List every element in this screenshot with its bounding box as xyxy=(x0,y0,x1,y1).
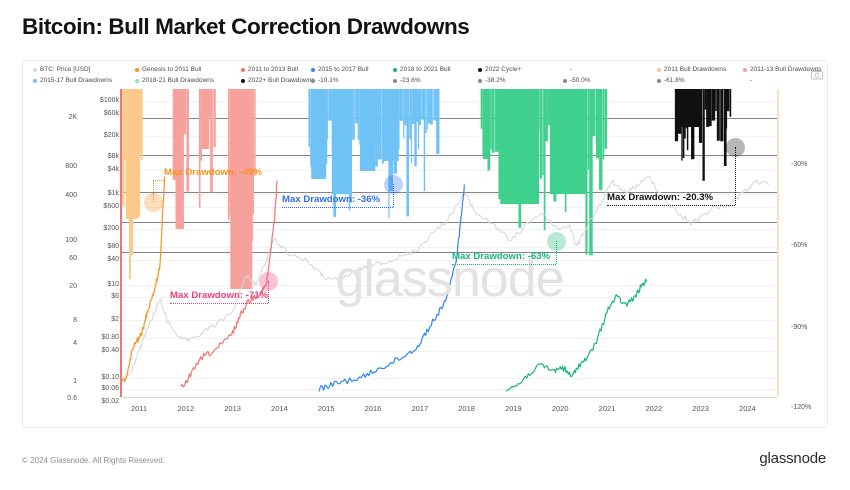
legend-item[interactable]: 2011 to 2013 Bull xyxy=(241,67,298,73)
page-title: Bitcoin: Bull Market Correction Drawdown… xyxy=(22,14,469,40)
drawdown-band-2015-17 xyxy=(382,89,398,161)
y-tick-label-drawdown: -120% xyxy=(791,404,811,411)
legend-item[interactable]: - xyxy=(563,67,572,73)
legend-swatch xyxy=(33,79,37,83)
legend-item-label: - xyxy=(570,67,572,73)
x-axis: 2011201220132014201520162017201820192020… xyxy=(122,400,777,420)
y-tick-label-price: $200 xyxy=(103,225,119,232)
chart-page: Bitcoin: Bull Market Correction Drawdown… xyxy=(0,0,850,490)
drawdown-band-2018-21 xyxy=(483,89,490,159)
legend-item[interactable]: - xyxy=(743,78,752,84)
y-tick-label-drawdown: -90% xyxy=(791,324,807,331)
annotation-leader-horizontal xyxy=(153,180,164,181)
drawdown-band-2022 xyxy=(677,89,700,127)
legend-swatch xyxy=(657,68,661,72)
y-tick-label-price: $0.02 xyxy=(101,398,119,405)
legend-item-label: 2018 to 2021 Bull xyxy=(400,67,451,73)
y-tick-label-price: $600 xyxy=(103,203,119,210)
max-drawdown-annotation: Max Drawdown: -49% xyxy=(164,167,262,178)
y-tick-label-price: $6 xyxy=(111,293,119,300)
legend-item[interactable]: 2022 Cycle+ xyxy=(478,67,521,73)
legend-swatch xyxy=(563,79,567,83)
y-tick-label-drawdown: -60% xyxy=(791,242,807,249)
x-tick-label: 2012 xyxy=(177,404,194,413)
y-axis-right-spine xyxy=(777,89,779,397)
footer-logo: glassnode xyxy=(759,450,826,467)
plot-canvas: glassnode Max Drawdown: -49%Max Drawdown… xyxy=(122,89,777,397)
legend-item-label: -23.6% xyxy=(400,78,421,84)
max-drawdown-annotation: Max Drawdown: -20.3% xyxy=(607,192,713,203)
chart-card: BTC: Price [USD]2015-17 Bull DrawdownsGe… xyxy=(22,60,828,428)
legend-item-label: -38.2% xyxy=(485,78,506,84)
y-tick-label-price: $8k xyxy=(108,153,119,160)
y-tick-label-price: $1k xyxy=(108,190,119,197)
y-tick-label-price: $2 xyxy=(111,316,119,323)
y-tick-label-price: $20k xyxy=(104,132,119,139)
legend-item[interactable]: -10.1% xyxy=(311,78,339,84)
price-cycle-2018-2021 xyxy=(506,279,646,391)
legend-item[interactable]: 2015 to 2017 Bull xyxy=(311,67,369,73)
drawdown-band-2011-13 xyxy=(176,89,184,229)
legend-item[interactable]: -50.0% xyxy=(563,78,591,84)
x-tick-label: 2014 xyxy=(271,404,288,413)
legend-swatch xyxy=(743,79,747,83)
legend-item-label: 2022 Cycle+ xyxy=(485,67,521,73)
y-axis-left-primary: 2K80040010060208410.6 xyxy=(43,89,77,397)
max-drawdown-marker xyxy=(259,272,278,291)
y-tick-label: 800 xyxy=(65,163,77,170)
y-tick-label-drawdown: -30% xyxy=(791,161,807,168)
y-tick-label-price: $0.80 xyxy=(101,334,119,341)
legend-swatch xyxy=(135,79,139,83)
legend-swatch xyxy=(393,79,397,83)
x-tick-label: 2011 xyxy=(131,404,147,413)
legend-item[interactable]: -23.6% xyxy=(393,78,421,84)
y-tick-label-price: $0.06 xyxy=(101,385,119,392)
max-drawdown-annotation: Max Drawdown: -63% xyxy=(452,251,550,262)
y-tick-label: 400 xyxy=(65,192,77,199)
btc-price-line xyxy=(122,176,768,388)
x-axis-line xyxy=(122,397,777,398)
max-drawdown-marker xyxy=(384,175,403,194)
legend-swatch xyxy=(135,68,139,72)
legend-swatch xyxy=(393,68,397,72)
drawdown-icicles-2018-21 xyxy=(481,89,607,255)
legend-swatch xyxy=(478,79,482,83)
annotation-leader-horizontal xyxy=(607,205,735,206)
legend-swatch xyxy=(33,68,37,72)
legend-item[interactable]: 2015-17 Bull Drawdowns xyxy=(33,78,112,84)
drawdown-band-2015-17 xyxy=(332,89,352,194)
y-tick-label-price: $40 xyxy=(107,256,119,263)
y-tick-label: 60 xyxy=(69,255,77,262)
y-tick-label-price: $0.40 xyxy=(101,347,119,354)
series-layer xyxy=(122,89,777,397)
legend-swatch xyxy=(241,79,245,83)
x-tick-label: 2024 xyxy=(739,404,756,413)
annotation-leader-horizontal xyxy=(170,303,268,304)
legend-item[interactable]: 2011 Bull Drawdowns xyxy=(657,67,726,73)
legend-item-label: 2011 Bull Drawdowns xyxy=(664,67,726,73)
max-drawdown-annotation: Max Drawdown: -71% xyxy=(170,290,268,301)
y-tick-label: 0.6 xyxy=(67,395,77,402)
max-drawdown-marker xyxy=(144,193,163,212)
x-tick-label: 2018 xyxy=(458,404,475,413)
legend-item-label: 2015-17 Bull Drawdowns xyxy=(40,78,112,84)
legend-item[interactable]: -38.2% xyxy=(478,78,506,84)
y-tick-label: 100 xyxy=(65,237,77,244)
y-tick-label: 8 xyxy=(73,317,77,324)
legend-item-label: Genesis to 2011 Bull xyxy=(142,67,202,73)
max-drawdown-marker xyxy=(726,138,745,157)
legend-item-label: BTC: Price [USD] xyxy=(40,67,91,73)
y-tick-label: 1 xyxy=(73,378,77,385)
max-drawdown-annotation: Max Drawdown: -36% xyxy=(282,194,380,205)
chart-legend: BTC: Price [USD]2015-17 Bull DrawdownsGe… xyxy=(23,61,829,89)
drawdown-band-2015-17 xyxy=(311,89,326,179)
y-tick-label-price: $10 xyxy=(107,281,119,288)
x-tick-label: 2021 xyxy=(599,404,616,413)
y-tick-label: 4 xyxy=(73,340,77,347)
x-tick-label: 2015 xyxy=(318,404,335,413)
legend-item-label: - xyxy=(750,78,752,84)
price-cycle-2015-2017 xyxy=(319,185,464,391)
legend-item-label: -50.0% xyxy=(570,78,591,84)
legend-swatch xyxy=(478,68,482,72)
drawdown-band-2018-21 xyxy=(500,89,539,204)
y-tick-label-price: $60k xyxy=(104,110,119,117)
legend-swatch xyxy=(657,79,661,83)
y-tick-label: 20 xyxy=(69,283,77,290)
y-tick-label-price: $80 xyxy=(107,243,119,250)
x-tick-label: 2016 xyxy=(365,404,382,413)
legend-item[interactable]: BTC: Price [USD] xyxy=(33,67,91,73)
legend-swatch xyxy=(311,79,315,83)
legend-swatch xyxy=(241,68,245,72)
legend-swatch xyxy=(563,68,567,72)
legend-item[interactable]: 2022+ Bull Drawdowns xyxy=(241,78,315,84)
y-tick-label-price: $100k xyxy=(100,97,119,104)
legend-item-label: -61.8% xyxy=(664,78,685,84)
legend-item-label: 2015 to 2017 Bull xyxy=(318,67,369,73)
legend-item[interactable]: 2018-21 Bull Drawdowns xyxy=(135,78,214,84)
legend-item-label: 2022+ Bull Drawdowns xyxy=(248,78,315,84)
legend-item-label: 2011-13 Bull Drawdowns xyxy=(750,67,822,73)
max-drawdown-marker xyxy=(547,232,566,251)
y-axis-right-drawdown: -30%-60%-90%-120% xyxy=(783,89,829,397)
y-axis-left-price: $100k$60k$20k$8k$4k$1k$600$200$80$40$10$… xyxy=(79,89,119,397)
legend-item[interactable]: 2011-13 Bull Drawdowns xyxy=(743,67,822,73)
x-tick-label: 2020 xyxy=(552,404,569,413)
x-tick-label: 2019 xyxy=(505,404,522,413)
legend-item-label: -10.1% xyxy=(318,78,339,84)
x-tick-label: 2022 xyxy=(645,404,662,413)
y-tick-label-price: $0.10 xyxy=(101,374,119,381)
drawdown-band-2011 xyxy=(126,89,138,219)
x-tick-label: 2023 xyxy=(692,404,709,413)
drawdown-band-2018-21 xyxy=(550,89,586,194)
legend-item[interactable]: -61.8% xyxy=(657,78,685,84)
legend-swatch xyxy=(743,68,747,72)
y-tick-label: 2K xyxy=(68,114,77,121)
x-tick-label: 2017 xyxy=(411,404,428,413)
plot-area: 2K80040010060208410.6 $100k$60k$20k$8k$4… xyxy=(23,89,829,429)
footer-copyright: © 2024 Glassnode. All Rights Reserved. xyxy=(22,456,165,465)
drawdown-band-2011-13 xyxy=(201,89,209,149)
y-tick-label-price: $4k xyxy=(108,166,119,173)
x-tick-label: 2013 xyxy=(224,404,241,413)
legend-swatch xyxy=(311,68,315,72)
legend-item[interactable]: 2018 to 2021 Bull xyxy=(393,67,451,73)
annotation-leader-horizontal xyxy=(282,207,393,208)
annotation-leader-horizontal xyxy=(452,264,556,265)
legend-item[interactable]: Genesis to 2011 Bull xyxy=(135,67,202,73)
legend-item-label: 2018-21 Bull Drawdowns xyxy=(142,78,214,84)
legend-item-label: 2011 to 2013 Bull xyxy=(248,67,298,73)
drawdown-band-2015-17 xyxy=(360,89,375,171)
